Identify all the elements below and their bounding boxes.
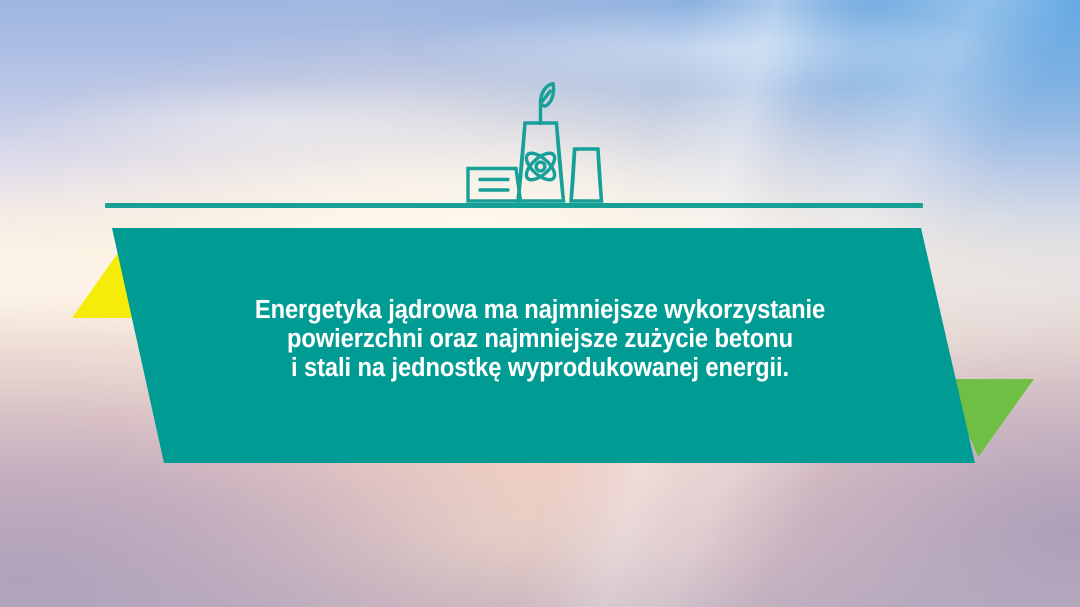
headline-line-1: Energetyka jądrowa ma najmniejsze wykorz… <box>38 296 1042 325</box>
headline-line-2: powierzchni oraz najmniejsze zużycie bet… <box>38 325 1042 354</box>
leaf-icon <box>541 84 554 124</box>
atom-icon <box>522 149 559 185</box>
cooling-tower-small-icon <box>571 149 602 201</box>
ground-rule <box>105 203 923 208</box>
reactor-building-icon <box>468 169 521 202</box>
headline-line-3: i stali na jednostkę wyprodukowanej ener… <box>38 354 1042 383</box>
nuclear-power-plant-icon <box>440 82 640 210</box>
headline-text: Energetyka jądrowa ma najmniejsze wykorz… <box>38 296 1042 383</box>
slide-canvas: Energetyka jądrowa ma najmniejsze wykorz… <box>0 0 1080 607</box>
